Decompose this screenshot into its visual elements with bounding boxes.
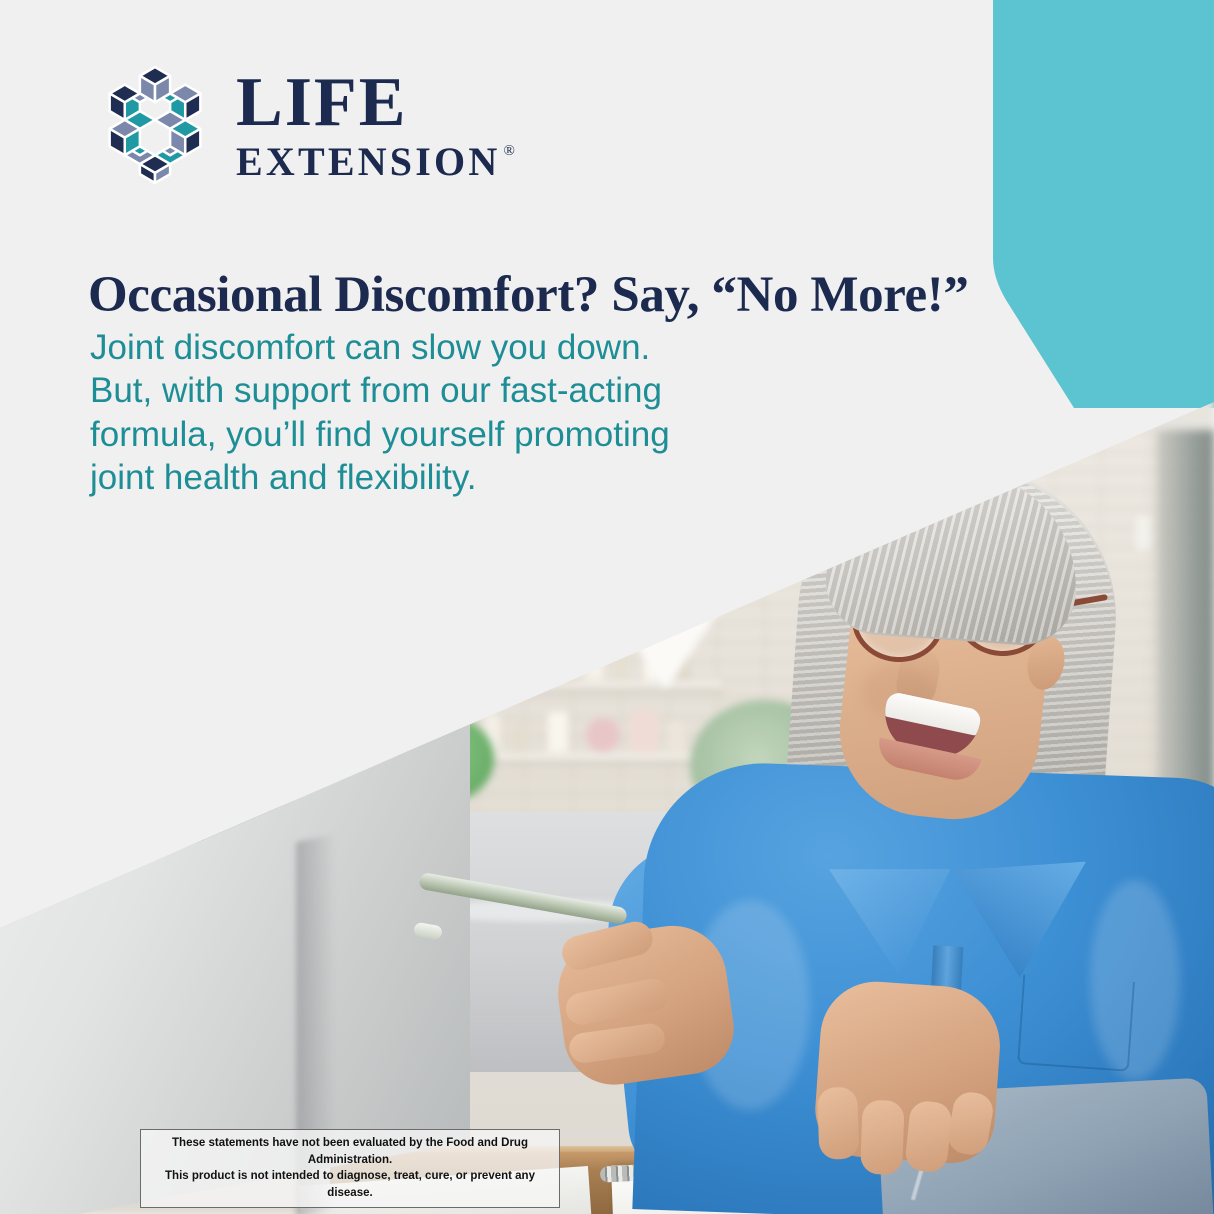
finger bbox=[860, 1100, 905, 1175]
brand-logo[interactable]: LIFE EXTENSION ® bbox=[92, 62, 515, 188]
disclaimer-line: These statements have not been evaluated… bbox=[147, 1135, 553, 1168]
range-hood-pipe bbox=[636, 498, 670, 610]
body-copy-line: formula, you’ll find yourself promoting bbox=[90, 413, 670, 456]
pen-tip bbox=[413, 922, 443, 941]
logo-extension-text: EXTENSION bbox=[236, 142, 500, 182]
pen bbox=[418, 872, 628, 925]
finger bbox=[817, 1087, 859, 1160]
finger bbox=[567, 1022, 666, 1065]
body-copy-line: Joint discomfort can slow you down. bbox=[90, 326, 670, 369]
ad-canvas: LIFE EXTENSION ® Occasional Discomfort? … bbox=[0, 0, 1214, 1214]
hand-on-notebook bbox=[812, 978, 1004, 1166]
jar bbox=[504, 652, 518, 680]
shirt-pocket bbox=[1017, 974, 1135, 1072]
logo-life-text: LIFE bbox=[236, 68, 515, 138]
wall-sconce-icon bbox=[500, 560, 512, 588]
body-copy-line: But, with support from our fast-acting bbox=[90, 369, 670, 412]
finger bbox=[563, 976, 671, 1027]
jar bbox=[530, 640, 548, 680]
pendant-lamp bbox=[520, 600, 596, 656]
logo-wordmark: LIFE EXTENSION ® bbox=[236, 68, 515, 182]
disclaimer-line: This product is not intended to diagnose… bbox=[147, 1168, 553, 1201]
fda-disclaimer: These statements have not been evaluated… bbox=[140, 1129, 560, 1208]
hand-holding-pen bbox=[550, 919, 739, 1091]
finger bbox=[904, 1100, 953, 1174]
jar bbox=[478, 646, 494, 680]
jar bbox=[560, 654, 575, 680]
hexagon-isometric-cube-mandala-icon bbox=[92, 62, 218, 188]
body-copy: Joint discomfort can slow you down. But,… bbox=[90, 326, 670, 500]
page-title: Occasional Discomfort? Say, “No More!” bbox=[88, 266, 968, 324]
body-copy-line: joint health and flexibility. bbox=[90, 456, 670, 499]
registered-trademark-icon: ® bbox=[503, 144, 514, 159]
